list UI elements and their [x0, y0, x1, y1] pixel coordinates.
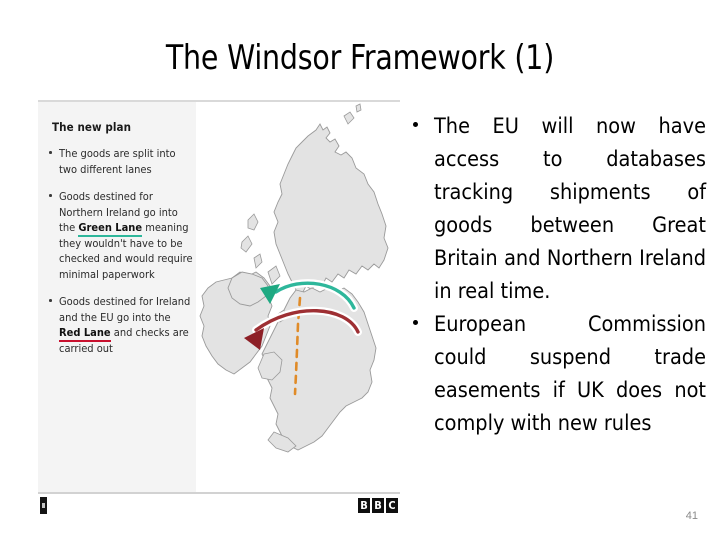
panel-heading: The new plan: [52, 120, 188, 134]
hebrides-shape-2: [241, 236, 252, 252]
page-number: 41: [686, 510, 698, 522]
map-landmasses: [200, 104, 388, 452]
bbc-logo-letter-3: C: [386, 498, 398, 513]
bbc-logo-letter-2: B: [372, 498, 384, 513]
hebrides-shape-3: [254, 254, 262, 268]
bullet-dot-icon: [49, 151, 52, 154]
bullet-dot-icon: [49, 194, 52, 197]
scotland-shape: [274, 124, 388, 294]
panel-bullet-3: Goods destined for Ireland and the EU go…: [48, 294, 194, 356]
page-title: The Windsor Framework (1): [25, 38, 695, 78]
map-svg: [196, 102, 400, 492]
orkney-shape: [344, 112, 354, 124]
body-bullet-2: European Commission could suspend trade …: [408, 308, 706, 440]
body-bullet-list: The EU will now have access to databases…: [408, 110, 706, 440]
bbc-infographic: The new plan The goods are split into tw…: [38, 100, 400, 518]
bbc-logo: B B C: [358, 498, 398, 513]
infographic-text-panel: The new plan The goods are split into tw…: [38, 102, 196, 492]
hebrides-shape: [248, 214, 258, 230]
body-bullet-1: The EU will now have access to databases…: [408, 110, 706, 308]
footer-marker-icon: [40, 497, 47, 514]
panel-bullet-1-text: The goods are split into two different l…: [59, 147, 176, 176]
infographic-footer: B B C: [38, 494, 400, 518]
red-lane-label: Red Lane: [59, 326, 111, 342]
slide-canvas: The Windsor Framework (1) The new plan T…: [0, 0, 720, 540]
bullet-dot-icon: [413, 122, 418, 127]
bullet-dot-icon: [413, 320, 418, 325]
bbc-logo-letter-1: B: [358, 498, 370, 513]
bullet-dot-icon: [49, 299, 52, 302]
panel-bullet-1: The goods are split into two different l…: [48, 146, 194, 177]
panel-bullet-list: The goods are split into two different l…: [48, 146, 194, 368]
islay-shape: [268, 266, 280, 284]
panel-bullet-2: Goods destined for Northern Ireland go i…: [48, 189, 194, 282]
panel-bullet-3-text-before: Goods destined for Ireland and the EU go…: [59, 295, 190, 324]
green-lane-label: Green Lane: [78, 221, 142, 237]
shetland-shape: [356, 104, 361, 112]
body-bullet-1-text: The EU will now have access to databases…: [434, 114, 706, 304]
body-bullet-2-text: European Commission could suspend trade …: [434, 312, 706, 436]
british-isles-map: [196, 102, 400, 492]
